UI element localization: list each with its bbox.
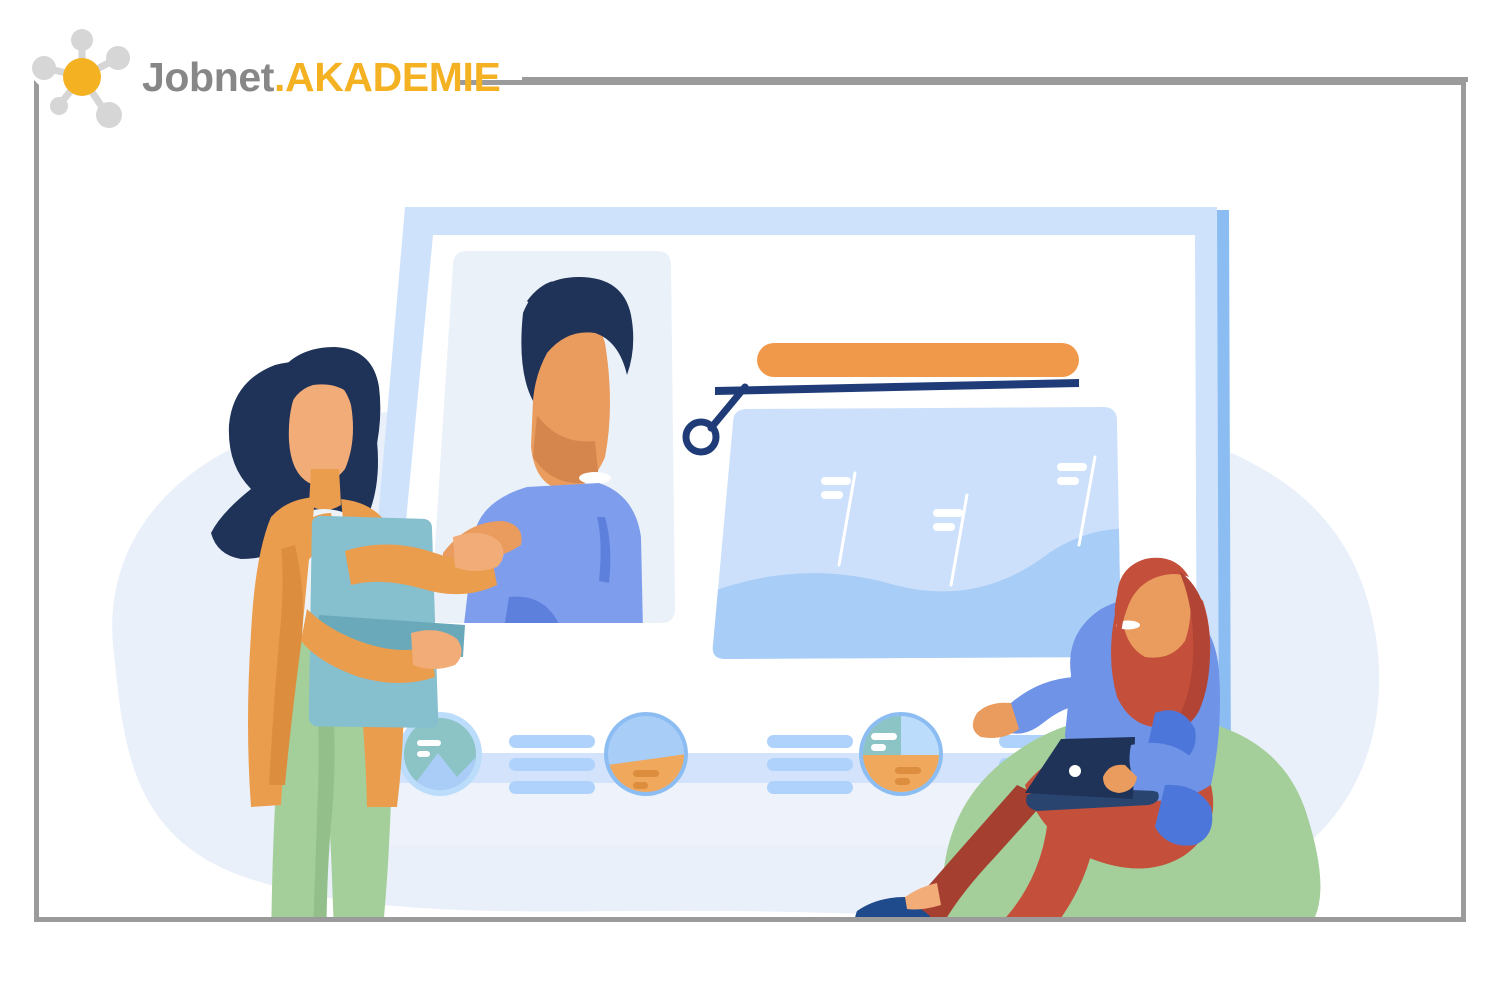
header-divider-rule: [522, 77, 1468, 82]
stat-row-1-label-lines: [509, 735, 595, 794]
illustration-area: [39, 85, 1461, 917]
screenshot-canvas: Jobnet.AKADEMIE: [0, 0, 1500, 1000]
stat-row-2-label-lines: [767, 735, 853, 794]
brand-name-primary: Jobnet: [142, 57, 274, 98]
network-node-icon: [28, 23, 136, 131]
area-chart-panel[interactable]: [703, 407, 1139, 675]
brand-name-dot: .: [274, 57, 285, 98]
brand-wordmark: Jobnet.AKADEMIE: [142, 57, 500, 98]
brand-header: Jobnet.AKADEMIE: [28, 22, 1468, 132]
brand-name-accent: AKADEMIE: [285, 57, 500, 98]
orange-title-bar: [757, 343, 1079, 377]
